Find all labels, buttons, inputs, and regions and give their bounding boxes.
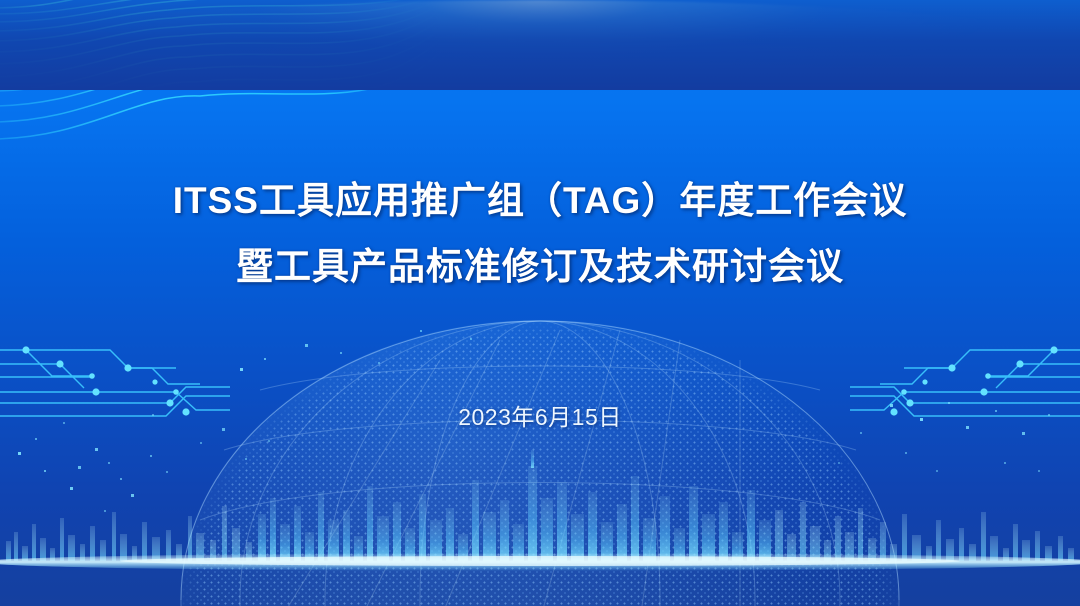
horizon-glow-decoration bbox=[0, 0, 1080, 120]
wave-lines-decoration bbox=[0, 0, 560, 150]
slide-title-line-2: 暨工具产品标准修订及技术研讨会议 bbox=[0, 234, 1080, 300]
city-skyline-decoration bbox=[0, 436, 1080, 606]
slide-date: 2023年6月15日 bbox=[0, 398, 1080, 432]
slide-title-line-1: ITSS工具应用推广组（TAG）年度工作会议 bbox=[0, 168, 1080, 234]
ground-reflection bbox=[0, 0, 1080, 90]
presentation-slide: ITSS工具应用推广组（TAG）年度工作会议 暨工具产品标准修订及技术研讨会议 … bbox=[0, 0, 1080, 606]
slide-title-block: ITSS工具应用推广组（TAG）年度工作会议 暨工具产品标准修订及技术研讨会议 bbox=[0, 168, 1080, 300]
